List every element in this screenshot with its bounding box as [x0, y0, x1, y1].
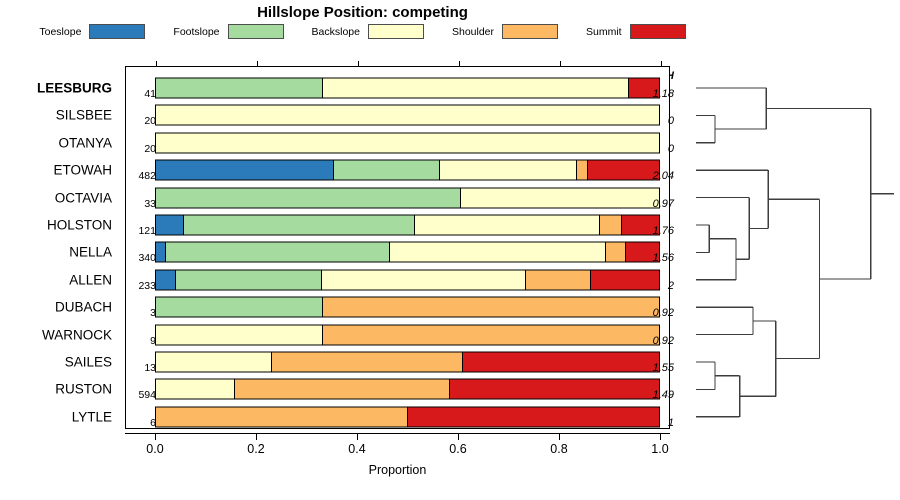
category-label: RUSTON	[55, 382, 112, 397]
x-tick	[256, 433, 257, 440]
h-value: 0	[640, 143, 674, 155]
legend-swatch-toeslope	[89, 24, 145, 39]
h-value: 0.97	[640, 198, 674, 210]
x-tick-label: 0.2	[231, 442, 281, 456]
bar-segment-backslope[interactable]	[156, 106, 659, 125]
n-value: 594	[126, 389, 156, 401]
legend-item: Summit	[586, 24, 686, 39]
stacked-bar[interactable]	[155, 187, 660, 208]
bar-segment-shoulder[interactable]	[526, 270, 591, 289]
bar-segment-toeslope[interactable]	[156, 161, 334, 180]
bar-segment-toeslope[interactable]	[156, 216, 184, 235]
h-value: 1.18	[640, 88, 674, 100]
category-label: ALLEN	[69, 272, 112, 287]
category-label: ETOWAH	[53, 163, 112, 178]
bar-segment-footslope[interactable]	[156, 188, 461, 207]
stacked-bar[interactable]	[155, 379, 660, 400]
bar-segment-summit[interactable]	[408, 407, 660, 426]
n-value: 6	[126, 417, 156, 429]
n-value: 233	[126, 280, 156, 292]
category-label: SAILES	[65, 355, 112, 370]
legend-label: Toeslope	[39, 26, 81, 38]
x-tick	[155, 433, 156, 440]
bar-segment-backslope[interactable]	[415, 216, 600, 235]
bar-segment-footslope[interactable]	[166, 243, 390, 262]
n-value: 20	[126, 115, 156, 127]
bar-segment-backslope[interactable]	[323, 79, 628, 98]
stacked-bar[interactable]	[155, 160, 660, 181]
stacked-bar[interactable]	[155, 105, 660, 126]
dendrogram	[690, 66, 900, 429]
x-tick	[660, 433, 661, 440]
x-tick	[559, 433, 560, 440]
category-label: OTANYA	[58, 135, 112, 150]
bar-segment-shoulder[interactable]	[323, 325, 659, 344]
x-axis-label: Proportion	[125, 463, 670, 477]
h-value: 1.56	[640, 252, 674, 264]
n-value: 33	[126, 198, 156, 210]
bar-segment-shoulder[interactable]	[235, 380, 450, 399]
n-value: 3	[126, 307, 156, 319]
bar-segment-backslope[interactable]	[156, 353, 272, 372]
x-tick	[357, 433, 358, 440]
category-label: SILSBEE	[56, 108, 112, 123]
bar-segment-footslope[interactable]	[334, 161, 441, 180]
bar-segment-backslope[interactable]	[390, 243, 606, 262]
bar-segment-toeslope[interactable]	[156, 270, 176, 289]
panel-top-tick	[156, 61, 157, 67]
bar-segment-backslope[interactable]	[156, 380, 235, 399]
panel-top-tick	[257, 61, 258, 67]
stacked-bar[interactable]	[155, 269, 660, 290]
bar-segment-backslope[interactable]	[461, 188, 659, 207]
x-tick-label: 0.4	[332, 442, 382, 456]
bar-segment-shoulder[interactable]	[323, 298, 659, 317]
x-tick-label: 0.6	[433, 442, 483, 456]
stacked-bar[interactable]	[155, 242, 660, 263]
n-value: 20	[126, 143, 156, 155]
legend-item: Footslope	[173, 24, 283, 39]
n-value: 13	[126, 362, 156, 374]
stacked-bar[interactable]	[155, 215, 660, 236]
bar-segment-summit[interactable]	[463, 353, 659, 372]
n-value: 340	[126, 252, 156, 264]
bar-segment-footslope[interactable]	[184, 216, 415, 235]
bar-segment-shoulder[interactable]	[577, 161, 587, 180]
stacked-bar[interactable]	[155, 78, 660, 99]
bar-segment-shoulder[interactable]	[606, 243, 626, 262]
bar-segment-toeslope[interactable]	[156, 243, 166, 262]
bar-segment-shoulder[interactable]	[272, 353, 463, 372]
h-value: 1.76	[640, 225, 674, 237]
legend-swatch-shoulder	[502, 24, 558, 39]
n-value: 9	[126, 335, 156, 347]
stacked-bar[interactable]	[155, 324, 660, 345]
bar-segment-footslope[interactable]	[176, 270, 322, 289]
category-label: WARNOCK	[42, 327, 112, 342]
category-label: NELLA	[69, 245, 112, 260]
bar-segment-backslope[interactable]	[156, 325, 323, 344]
stacked-bar[interactable]	[155, 406, 660, 427]
category-label: HOLSTON	[47, 218, 112, 233]
n-value: 121	[126, 225, 156, 237]
stacked-bar[interactable]	[155, 132, 660, 153]
legend-swatch-backslope	[368, 24, 424, 39]
h-value: 2	[640, 280, 674, 292]
bar-segment-footslope[interactable]	[156, 79, 323, 98]
bar-segment-footslope[interactable]	[156, 298, 323, 317]
x-tick-label: 1.0	[635, 442, 685, 456]
legend-item: Backslope	[312, 24, 424, 39]
stacked-bar[interactable]	[155, 297, 660, 318]
category-label: LEESBURG	[37, 81, 112, 96]
bar-segment-shoulder[interactable]	[600, 216, 622, 235]
panel-top-tick	[459, 61, 460, 67]
n-value: 41	[126, 88, 156, 100]
legend-swatch-footslope	[228, 24, 284, 39]
legend-item: Toeslope	[39, 24, 145, 39]
bar-segment-backslope[interactable]	[322, 270, 526, 289]
h-value: 1.55	[640, 362, 674, 374]
h-value: 0.92	[640, 335, 674, 347]
legend-label: Footslope	[173, 26, 219, 38]
n-value: 482	[126, 170, 156, 182]
h-value: 0.92	[640, 307, 674, 319]
stacked-bar[interactable]	[155, 352, 660, 373]
x-tick-label: 0.8	[534, 442, 584, 456]
bar-segment-summit[interactable]	[450, 380, 659, 399]
category-label: OCTAVIA	[55, 190, 112, 205]
x-axis-line	[125, 433, 670, 434]
x-tick	[458, 433, 459, 440]
panel-top-tick	[560, 61, 561, 67]
legend-label: Summit	[586, 26, 622, 38]
category-label-column: LEESBURGSILSBEEOTANYAETOWAHOCTAVIAHOLSTO…	[0, 66, 120, 429]
page-title: Hillslope Position: competing	[0, 4, 725, 21]
h-value: 0	[640, 115, 674, 127]
bar-segment-backslope[interactable]	[156, 133, 659, 152]
h-value: 2.04	[640, 170, 674, 182]
category-label: LYTLE	[72, 409, 112, 424]
panel-top-tick	[358, 61, 359, 67]
panel-top-tick	[661, 61, 662, 67]
legend-label: Shoulder	[452, 26, 494, 38]
legend-label: Backslope	[312, 26, 360, 38]
h-value: 1	[640, 417, 674, 429]
bar-segment-shoulder[interactable]	[156, 407, 408, 426]
bar-segment-backslope[interactable]	[440, 161, 577, 180]
legend-item: Shoulder	[452, 24, 558, 39]
h-value: 1.49	[640, 389, 674, 401]
legend-swatch-summit	[630, 24, 686, 39]
x-tick-label: 0.0	[130, 442, 180, 456]
legend: ToeslopeFootslopeBackslopeShoulderSummit	[0, 24, 725, 39]
category-label: DUBACH	[55, 300, 112, 315]
